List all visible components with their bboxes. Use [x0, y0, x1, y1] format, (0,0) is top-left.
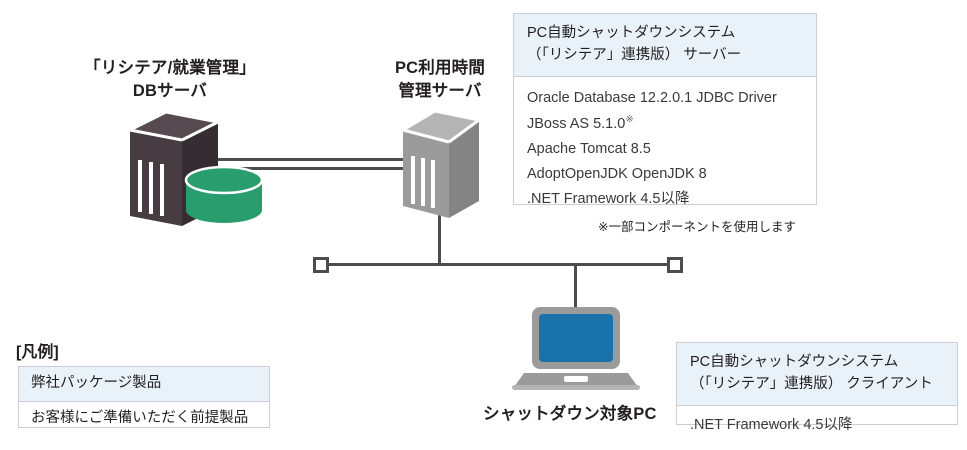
client-spec-header-line2: （「リシテア」連携版） クライアント — [690, 373, 944, 395]
client-spec-body: .NET Framework 4.5以降 — [677, 406, 957, 448]
db-server-caption-line2: DBサーバ — [40, 80, 300, 103]
client-spec-header-line1: PC自動シャットダウンシステム — [690, 351, 944, 373]
db-server-caption: 「リシテア/就業管理」 DBサーバ — [40, 57, 300, 104]
server-spec-item: Apache Tomcat 8.5 — [527, 137, 803, 162]
target-pc-caption: シャットダウン対象PC — [483, 400, 657, 424]
pc-time-server-icon — [395, 106, 495, 221]
legend-box: 弊社パッケージ製品 お客様にご準備いただく前提製品 — [18, 366, 270, 428]
footnote-marker-icon: ※ — [625, 114, 633, 125]
legend-row-own-product: 弊社パッケージ製品 — [19, 367, 269, 402]
server-spec-item: Oracle Database 12.2.0.1 JDBC Driver — [527, 86, 803, 111]
pc-time-server-caption-line2: 管理サーバ — [340, 80, 540, 103]
bus-terminator-right — [667, 257, 683, 273]
pc-time-server-caption: PC利用時間 管理サーバ — [340, 57, 540, 104]
server-spec-header-line1: PC自動シャットダウンシステム — [527, 22, 803, 44]
server-spec-item: JBoss AS 5.1.0※ — [527, 111, 803, 137]
pc-time-server-caption-line1: PC利用時間 — [340, 57, 540, 80]
server-spec-box: PC自動シャットダウンシステム （「リシテア」連携版） サーバー Oracle … — [513, 13, 817, 205]
legend-title: [凡例] — [16, 338, 59, 362]
server-spec-item: .NET Framework 4.5以降 — [527, 187, 803, 212]
server-spec-header-line2: （「リシテア」連携版） サーバー — [527, 44, 803, 66]
server-spec-header: PC自動シャットダウンシステム （「リシテア」連携版） サーバー — [514, 14, 816, 77]
client-spec-header: PC自動シャットダウンシステム （「リシテア」連携版） クライアント — [677, 343, 957, 406]
client-spec-box: PC自動シャットダウンシステム （「リシテア」連携版） クライアント .NET … — [676, 342, 958, 425]
link-timeserver-to-bus — [438, 215, 441, 265]
bus-terminator-left — [313, 257, 329, 273]
server-spec-item: AdoptOpenJDK OpenJDK 8 — [527, 162, 803, 187]
server-spec-body: Oracle Database 12.2.0.1 JDBC Driver JBo… — [514, 77, 816, 222]
target-pc-icon — [510, 305, 642, 391]
db-server-icon — [120, 108, 270, 226]
network-bus — [320, 263, 677, 266]
server-spec-footnote: ※一部コンポーネントを使用します — [598, 216, 796, 235]
client-spec-item: .NET Framework 4.5以降 — [690, 413, 944, 438]
legend-row-customer-product: お客様にご準備いただく前提製品 — [19, 402, 269, 436]
db-server-caption-line1: 「リシテア/就業管理」 — [40, 57, 300, 80]
